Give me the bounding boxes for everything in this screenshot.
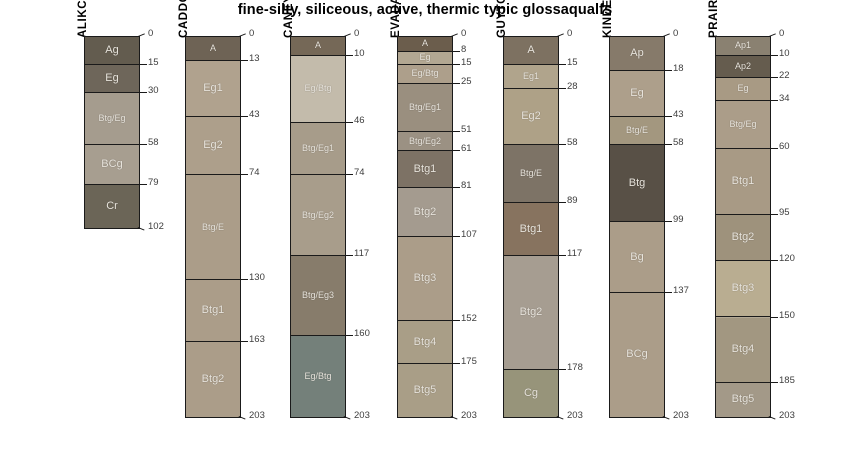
horizon-segment: Eg/Btg — [291, 336, 345, 416]
depth-tick-mark — [241, 60, 248, 61]
horizon-label: Btg/E — [626, 126, 648, 135]
depth-tick-mark — [665, 292, 672, 293]
horizon-segment: Cg — [504, 370, 558, 417]
depth-tick-label: 95 — [779, 208, 790, 218]
horizon-segment: Eg — [398, 52, 452, 65]
depth-tick-label: 203 — [673, 411, 689, 421]
horizon-label: A — [315, 41, 321, 50]
horizon-segment: A — [398, 37, 452, 52]
horizon-segment: Btg/Eg1 — [398, 84, 452, 133]
depth-tick-label: 120 — [779, 254, 795, 264]
profile-column: AgEgBtg/EgBCgCr — [84, 36, 140, 229]
profile-name-label: KINDER — [603, 0, 615, 38]
horizon-label: A — [527, 45, 534, 56]
horizon-label: Btg1 — [732, 176, 755, 187]
horizon-segment: Eg — [85, 65, 139, 93]
depth-tick-label: 0 — [354, 29, 359, 39]
depth-tick-label: 10 — [779, 49, 790, 59]
depth-tick-mark — [346, 255, 353, 256]
depth-tick-mark — [557, 416, 564, 420]
horizon-label: BCg — [626, 349, 647, 360]
depth-tick-mark — [241, 341, 248, 342]
depth-tick-mark — [453, 150, 460, 151]
depth-tick-mark — [771, 100, 778, 101]
depth-tick-mark — [665, 144, 672, 145]
horizon-segment: Btg/E — [504, 145, 558, 203]
horizon-segment: Btg3 — [716, 261, 770, 317]
depth-tick-label: 58 — [148, 138, 159, 148]
depth-tick-label: 81 — [461, 181, 472, 191]
horizon-segment: Btg2 — [186, 342, 240, 417]
depth-tick-label: 163 — [249, 335, 265, 345]
depth-tick-label: 15 — [148, 58, 159, 68]
horizon-label: Btg/Eg — [729, 120, 756, 129]
depth-tick-label: 203 — [461, 411, 477, 421]
depth-tick-label: 34 — [779, 94, 790, 104]
depth-tick-mark — [663, 33, 670, 37]
profile-column: AEg1Eg2Btg/EBtg1Btg2 — [185, 36, 241, 418]
horizon-segment: Btg — [610, 145, 664, 222]
depth-tick-label: 13 — [249, 54, 260, 64]
profile-column: ApEgBtg/EBtgBgBCg — [609, 36, 665, 418]
profile-name-label: CANEYHEAD — [284, 0, 296, 38]
depth-tick-mark — [453, 51, 460, 52]
depth-tick-label: 15 — [461, 58, 472, 68]
depth-tick-mark — [559, 144, 566, 145]
horizon-segment: A — [504, 37, 558, 65]
depth-tick-mark — [663, 416, 670, 420]
depth-tick-mark — [453, 83, 460, 84]
horizon-label: Eg — [105, 73, 118, 84]
horizon-label: Btg3 — [732, 283, 755, 294]
profile-column: AEg/BtgBtg/Eg1Btg/Eg2Btg/Eg3Eg/Btg — [290, 36, 346, 418]
depth-tick-mark — [239, 33, 246, 37]
depth-tick-mark — [771, 214, 778, 215]
depth-tick-mark — [559, 64, 566, 65]
horizon-label: Btg/Eg2 — [302, 211, 334, 220]
horizon-label: Cg — [524, 388, 538, 399]
profile-column: AEg1Eg2Btg/EBtg1Btg2Cg — [503, 36, 559, 418]
depth-tick-mark — [559, 255, 566, 256]
horizon-label: Btg2 — [202, 374, 225, 385]
horizon-segment: Eg — [716, 78, 770, 100]
depth-tick-label: 0 — [673, 29, 678, 39]
profile-name-label: PRAIRIELAND — [709, 0, 721, 38]
depth-tick-mark — [453, 131, 460, 132]
horizon-label: Btg4 — [732, 344, 755, 355]
horizon-label: Btg/E — [520, 169, 542, 178]
depth-tick-label: 0 — [461, 29, 466, 39]
depth-tick-label: 61 — [461, 144, 472, 154]
horizon-label: Btg2 — [732, 232, 755, 243]
horizon-label: Btg — [629, 178, 646, 189]
depth-tick-label: 28 — [567, 82, 578, 92]
horizon-segment: Btg1 — [398, 151, 452, 188]
depth-tick-mark — [241, 116, 248, 117]
depth-tick-mark — [453, 363, 460, 364]
depth-tick-label: 130 — [249, 273, 265, 283]
horizon-label: Ag — [105, 45, 118, 56]
depth-tick-label: 175 — [461, 357, 477, 367]
horizon-segment: Eg2 — [504, 89, 558, 145]
horizon-label: Eg/Btg — [304, 84, 331, 93]
profile-name-label: GUYTON — [497, 0, 509, 38]
depth-tick-label: 107 — [461, 230, 477, 240]
horizon-segment: Btg2 — [716, 215, 770, 262]
horizon-label: Cr — [106, 201, 118, 212]
depth-tick-label: 30 — [148, 86, 159, 96]
horizon-label: Eg/Btg — [304, 372, 331, 381]
horizon-label: Btg1 — [414, 164, 437, 175]
horizon-label: Btg/Eg2 — [409, 137, 441, 146]
depth-tick-label: 15 — [567, 58, 578, 68]
horizon-label: Eg1 — [203, 83, 223, 94]
depth-tick-label: 0 — [148, 29, 153, 39]
horizon-segment: Btg2 — [504, 256, 558, 370]
profile-column: AEgEg/BtgBtg/Eg1Btg/Eg2Btg1Btg2Btg3Btg4B… — [397, 36, 453, 418]
depth-tick-label: 203 — [779, 411, 795, 421]
depth-tick-label: 51 — [461, 125, 472, 135]
horizon-label: Bg — [630, 252, 643, 263]
depth-tick-mark — [771, 260, 778, 261]
horizon-segment: Ag — [85, 37, 139, 65]
horizon-label: Ap2 — [735, 62, 751, 71]
horizon-segment: A — [186, 37, 240, 61]
horizon-label: Btg5 — [414, 385, 437, 396]
depth-tick-label: 60 — [779, 142, 790, 152]
horizon-segment: Btg2 — [398, 188, 452, 237]
depth-tick-mark — [453, 236, 460, 237]
horizon-segment: Btg5 — [398, 364, 452, 416]
horizon-label: A — [422, 39, 428, 48]
horizon-label: Btg/E — [202, 223, 224, 232]
depth-tick-label: 43 — [249, 110, 260, 120]
depth-tick-mark — [665, 116, 672, 117]
horizon-label: Eg2 — [203, 140, 223, 151]
depth-tick-label: 0 — [567, 29, 572, 39]
horizon-label: Eg — [630, 88, 643, 99]
horizon-label: Btg4 — [414, 337, 437, 348]
depth-tick-label: 10 — [354, 49, 365, 59]
horizon-label: Btg5 — [732, 394, 755, 405]
horizon-label: Btg/Eg3 — [302, 291, 334, 300]
horizon-label: Eg2 — [521, 111, 541, 122]
depth-tick-mark — [140, 64, 147, 65]
horizon-segment: Eg2 — [186, 117, 240, 175]
depth-tick-mark — [771, 382, 778, 383]
depth-tick-label: 74 — [354, 168, 365, 178]
horizon-segment: Btg/Eg1 — [291, 123, 345, 175]
depth-tick-label: 102 — [148, 222, 164, 232]
horizon-label: Btg/Eg — [98, 114, 125, 123]
horizon-label: Btg3 — [414, 273, 437, 284]
horizon-label: Eg — [737, 84, 748, 93]
horizon-segment: Bg — [610, 222, 664, 293]
horizon-segment: Eg/Btg — [291, 56, 345, 123]
horizon-segment: BCg — [85, 145, 139, 184]
horizon-segment: Ap — [610, 37, 664, 71]
depth-tick-label: 160 — [354, 329, 370, 339]
horizon-segment: Eg1 — [186, 61, 240, 117]
depth-tick-mark — [557, 33, 564, 37]
depth-tick-label: 117 — [354, 249, 369, 259]
horizon-label: Eg1 — [523, 72, 539, 81]
horizon-label: A — [210, 44, 216, 53]
horizon-segment: Btg4 — [398, 321, 452, 364]
depth-tick-label: 74 — [249, 168, 260, 178]
horizon-segment: Btg1 — [186, 280, 240, 342]
depth-tick-mark — [771, 317, 778, 318]
depth-tick-mark — [771, 55, 778, 56]
horizon-label: BCg — [101, 159, 122, 170]
depth-tick-label: 22 — [779, 71, 790, 81]
depth-tick-mark — [138, 33, 145, 37]
depth-tick-mark — [559, 369, 566, 370]
horizon-label: Btg1 — [520, 224, 543, 235]
horizon-segment: Btg/E — [186, 175, 240, 280]
depth-tick-mark — [346, 55, 353, 56]
depth-tick-mark — [140, 92, 147, 93]
horizon-segment: Eg1 — [504, 65, 558, 89]
depth-tick-mark — [453, 187, 460, 188]
depth-tick-label: 137 — [673, 286, 689, 296]
depth-tick-label: 89 — [567, 196, 578, 206]
depth-tick-label: 8 — [461, 45, 466, 55]
profile-name-label: EVADALE — [391, 0, 403, 38]
horizon-segment: Ap2 — [716, 56, 770, 78]
depth-tick-mark — [453, 64, 460, 65]
horizon-segment: Cr — [85, 185, 139, 228]
depth-tick-mark — [344, 33, 351, 37]
horizon-segment: Eg/Btg — [398, 65, 452, 84]
horizon-label: Btg2 — [414, 207, 437, 218]
depth-tick-mark — [138, 227, 145, 231]
horizon-segment: Eg — [610, 71, 664, 118]
horizon-segment: Btg3 — [398, 237, 452, 321]
horizon-label: Eg — [419, 53, 430, 62]
horizon-segment: Btg4 — [716, 318, 770, 383]
depth-tick-mark — [346, 122, 353, 123]
depth-tick-label: 79 — [148, 178, 159, 188]
depth-tick-mark — [451, 33, 458, 37]
depth-tick-mark — [346, 174, 353, 175]
horizon-label: Ap — [630, 48, 643, 59]
depth-tick-mark — [769, 416, 776, 420]
depth-tick-mark — [241, 174, 248, 175]
depth-tick-label: 203 — [249, 411, 265, 421]
depth-tick-mark — [665, 70, 672, 71]
horizon-label: Ap1 — [735, 41, 751, 50]
profile-column: Ap1Ap2EgBtg/EgBtg1Btg2Btg3Btg4Btg5 — [715, 36, 771, 418]
depth-tick-mark — [346, 335, 353, 336]
horizon-segment: Btg/Eg2 — [398, 132, 452, 151]
depth-tick-mark — [241, 279, 248, 280]
depth-tick-mark — [559, 88, 566, 89]
horizon-segment: Btg/E — [610, 117, 664, 145]
depth-tick-mark — [559, 202, 566, 203]
depth-tick-mark — [771, 77, 778, 78]
depth-tick-label: 117 — [567, 249, 582, 259]
horizon-label: Eg/Btg — [411, 69, 438, 78]
depth-tick-mark — [344, 416, 351, 420]
depth-tick-label: 152 — [461, 314, 477, 324]
horizon-segment: Btg/Eg2 — [291, 175, 345, 255]
depth-tick-mark — [769, 33, 776, 37]
depth-tick-mark — [239, 416, 246, 420]
depth-tick-label: 203 — [567, 411, 583, 421]
profile-name-label: CADDO — [179, 0, 191, 38]
depth-tick-label: 0 — [249, 29, 254, 39]
depth-tick-label: 0 — [779, 29, 784, 39]
horizon-segment: BCg — [610, 293, 664, 416]
depth-tick-label: 178 — [567, 363, 583, 373]
horizon-label: Btg/Eg1 — [409, 103, 441, 112]
depth-tick-label: 150 — [779, 311, 795, 321]
horizon-segment: Btg5 — [716, 383, 770, 417]
depth-tick-label: 18 — [673, 64, 684, 74]
depth-tick-mark — [140, 184, 147, 185]
chart-title: fine-silty, siliceous, active, thermic t… — [0, 2, 850, 18]
depth-tick-mark — [451, 416, 458, 420]
horizon-segment: Btg/Eg3 — [291, 256, 345, 336]
horizon-segment: Btg/Eg — [716, 101, 770, 150]
depth-tick-label: 46 — [354, 116, 365, 126]
depth-tick-mark — [140, 144, 147, 145]
depth-tick-label: 185 — [779, 376, 795, 386]
depth-tick-label: 99 — [673, 215, 684, 225]
horizon-segment: Ap1 — [716, 37, 770, 56]
horizon-label: Btg/Eg1 — [302, 144, 334, 153]
depth-tick-mark — [771, 148, 778, 149]
horizon-label: Btg2 — [520, 307, 543, 318]
horizon-segment: Btg1 — [716, 149, 770, 214]
depth-tick-mark — [665, 221, 672, 222]
depth-tick-mark — [453, 320, 460, 321]
horizon-segment: A — [291, 37, 345, 56]
depth-tick-label: 58 — [673, 138, 684, 148]
horizon-segment: Btg1 — [504, 203, 558, 255]
depth-tick-label: 43 — [673, 110, 684, 120]
horizon-label: Btg1 — [202, 305, 225, 316]
depth-tick-label: 58 — [567, 138, 578, 148]
depth-tick-label: 203 — [354, 411, 370, 421]
depth-tick-label: 25 — [461, 77, 472, 87]
soil-profile-figure: fine-silty, siliceous, active, thermic t… — [0, 0, 850, 450]
profile-name-label: ALIKCHI — [78, 0, 90, 38]
horizon-segment: Btg/Eg — [85, 93, 139, 145]
